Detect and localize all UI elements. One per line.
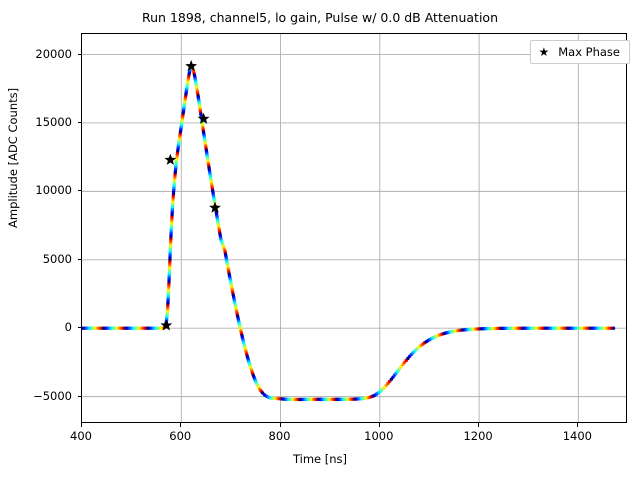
max-phase-marker bbox=[164, 154, 176, 165]
x-tick-label: 400 bbox=[46, 429, 116, 443]
x-tick-mark bbox=[280, 423, 281, 427]
x-tick-mark bbox=[379, 423, 380, 427]
y-tick-label: 0 bbox=[0, 320, 72, 334]
x-tick-mark bbox=[81, 423, 82, 427]
x-tick-mark bbox=[180, 423, 181, 427]
star-icon: ★ bbox=[538, 46, 549, 58]
chart-figure: Run 1898, channel5, lo gain, Pulse w/ 0.… bbox=[0, 0, 640, 480]
legend[interactable]: ★ Max Phase bbox=[530, 40, 630, 64]
y-tick-label: −5000 bbox=[0, 389, 72, 403]
gridlines bbox=[82, 34, 627, 423]
plot-canvas bbox=[82, 34, 627, 423]
plot-area bbox=[81, 33, 627, 423]
x-axis-label: Time [ns] bbox=[0, 452, 640, 466]
legend-label-max-phase: Max Phase bbox=[558, 45, 620, 59]
x-tick-label: 1200 bbox=[443, 429, 513, 443]
x-tick-label: 800 bbox=[245, 429, 315, 443]
y-tick-label: 5000 bbox=[0, 252, 72, 266]
x-tick-label: 1400 bbox=[542, 429, 612, 443]
x-tick-mark bbox=[577, 423, 578, 427]
y-tick-label: 15000 bbox=[0, 115, 72, 129]
chart-title: Run 1898, channel5, lo gain, Pulse w/ 0.… bbox=[0, 10, 640, 25]
y-tick-label: 20000 bbox=[0, 47, 72, 61]
y-axis-label: Amplitude [ADC Counts] bbox=[6, 88, 20, 228]
x-tick-label: 600 bbox=[145, 429, 215, 443]
x-tick-label: 1000 bbox=[344, 429, 414, 443]
y-tick-label: 10000 bbox=[0, 183, 72, 197]
x-tick-mark bbox=[478, 423, 479, 427]
waveform-scatter bbox=[82, 64, 615, 401]
